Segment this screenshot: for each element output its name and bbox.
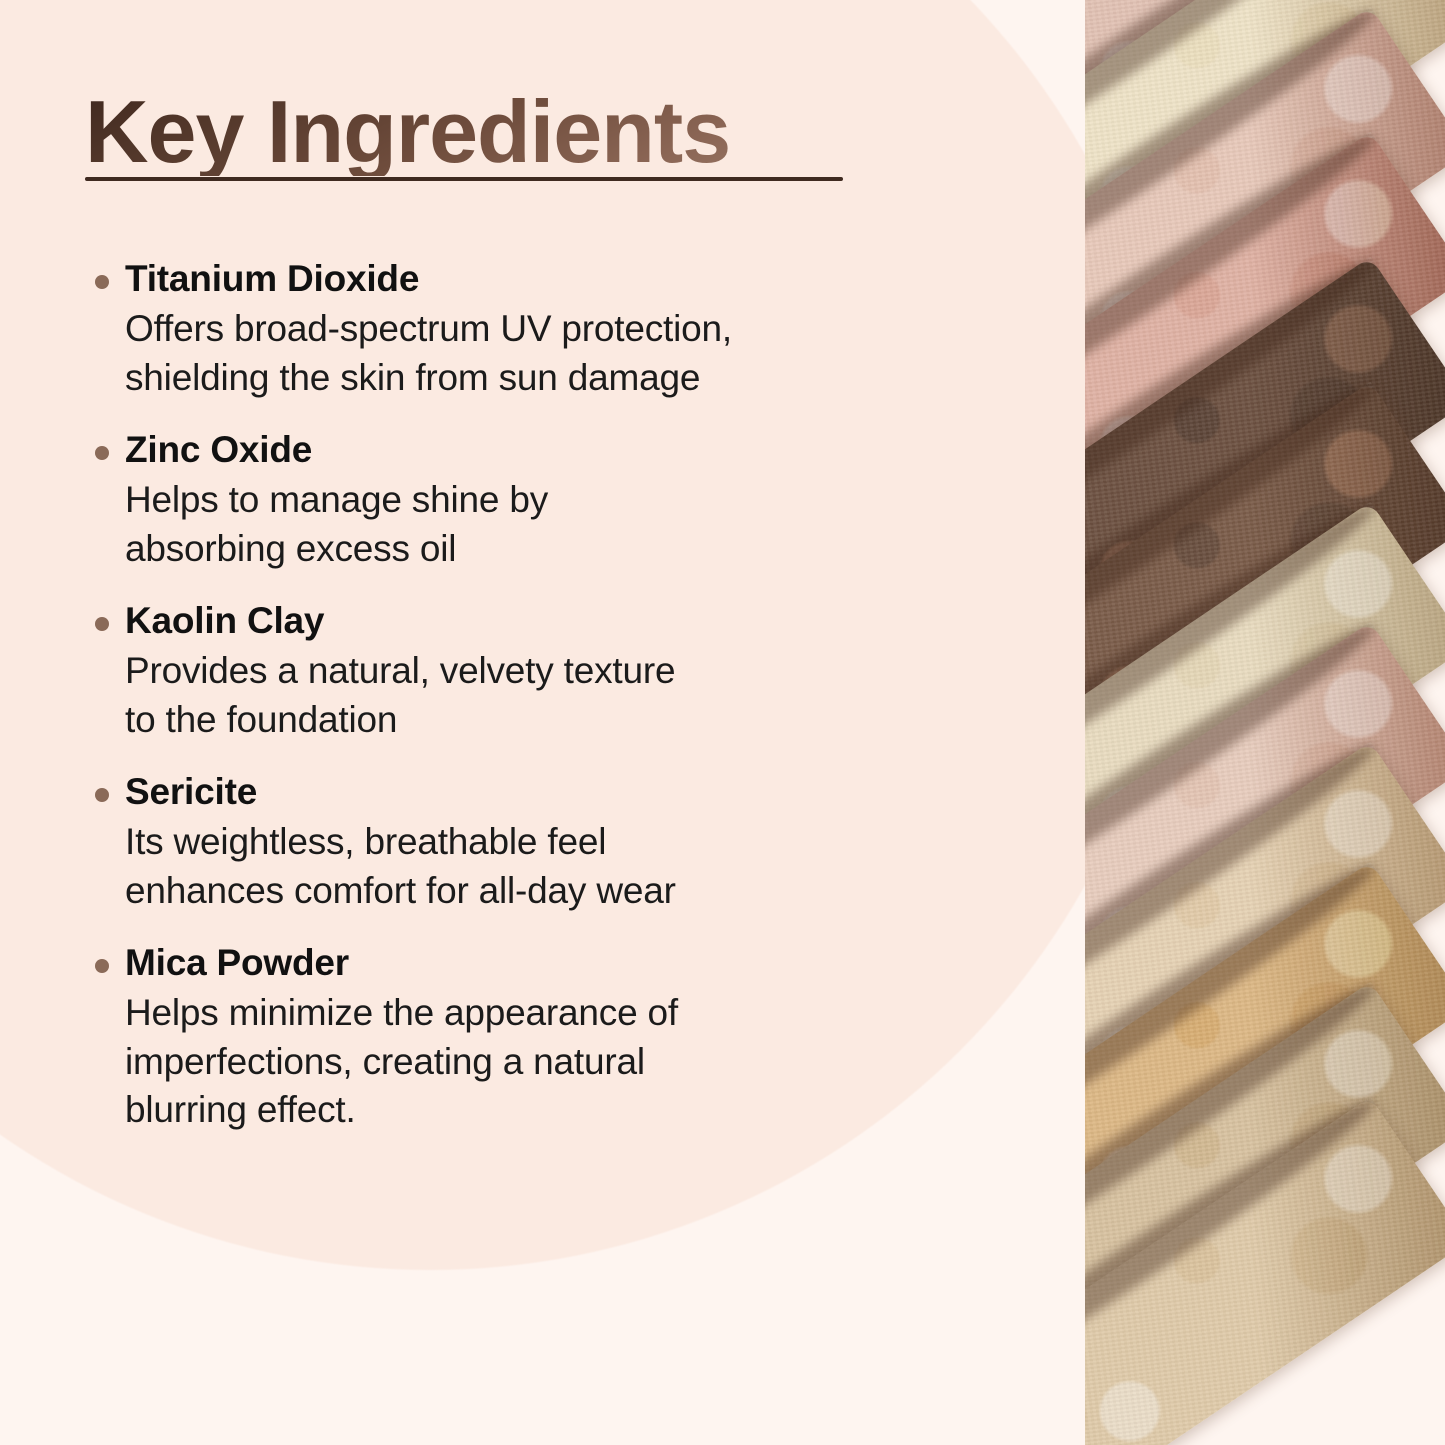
list-item: Kaolin Clay Provides a natural, velvety …	[95, 598, 995, 744]
title-underline-rule	[85, 177, 843, 181]
ingredient-name: Sericite	[125, 769, 995, 814]
title-block: Key Ingredients	[85, 88, 865, 176]
bullet-dot-icon	[95, 446, 109, 460]
list-item: Titanium Dioxide Offers broad-spectrum U…	[95, 256, 995, 402]
ingredient-name: Kaolin Clay	[125, 598, 995, 643]
list-item: Zinc Oxide Helps to manage shine by abso…	[95, 427, 995, 573]
bullet-dot-icon	[95, 275, 109, 289]
ingredient-name: Titanium Dioxide	[125, 256, 995, 301]
ingredient-description: Offers broad-spectrum UV protection, shi…	[125, 305, 995, 402]
ingredient-name: Mica Powder	[125, 940, 995, 985]
bullet-dot-icon	[95, 959, 109, 973]
list-item: Mica Powder Helps minimize the appearanc…	[95, 940, 995, 1135]
ingredient-description: Helps minimize the appearance of imperfe…	[125, 989, 995, 1134]
ingredient-description: Helps to manage shine by absorbing exces…	[125, 476, 995, 573]
product-ingredients-infographic: Key Ingredients Titanium Dioxide Offers …	[0, 0, 1445, 1445]
list-item: Sericite Its weightless, breathable feel…	[95, 769, 995, 915]
ingredients-list: Titanium Dioxide Offers broad-spectrum U…	[95, 256, 995, 1135]
content-column: Key Ingredients Titanium Dioxide Offers …	[0, 0, 1090, 1445]
powder-swatch-image	[1085, 0, 1445, 1445]
ingredient-description: Its weightless, breathable feel enhances…	[125, 818, 995, 915]
ingredient-description: Provides a natural, velvety texture to t…	[125, 647, 995, 744]
bullet-dot-icon	[95, 617, 109, 631]
page-title: Key Ingredients	[85, 88, 865, 176]
bullet-dot-icon	[95, 788, 109, 802]
ingredient-name: Zinc Oxide	[125, 427, 995, 472]
